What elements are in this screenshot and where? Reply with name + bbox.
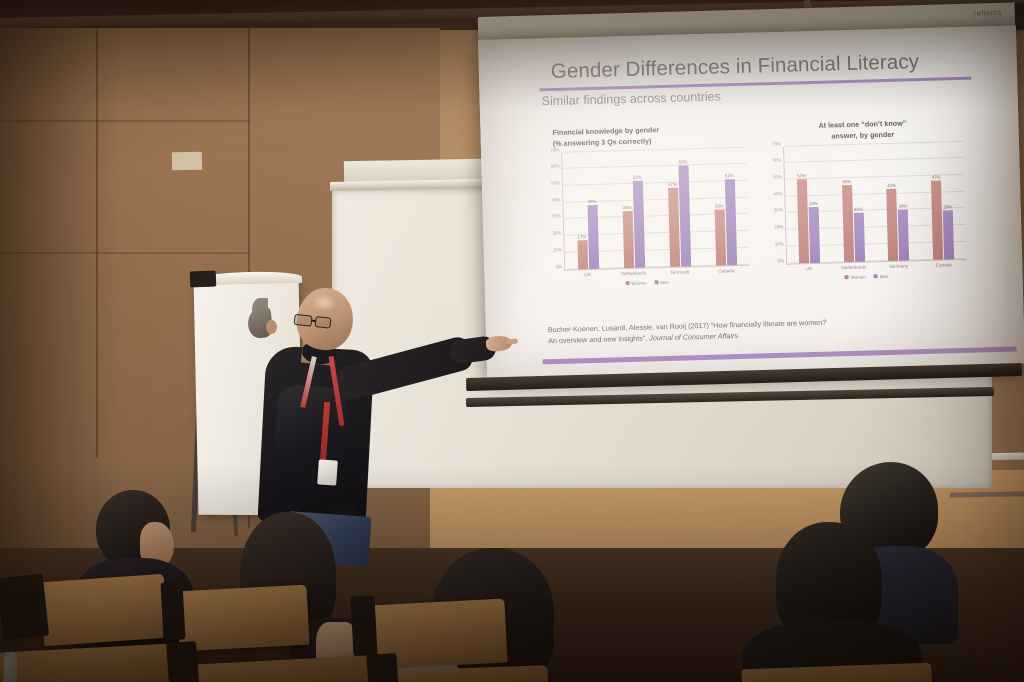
projection-screen: Gender Differences in Financial Literacy… [478,25,1024,377]
y-axis-tick-label: 10% [553,247,562,252]
bar-value-label: 34% [623,205,632,210]
bar-value-label: 29% [854,207,863,212]
bar-value-label: 51% [725,173,734,178]
bar-men-netherlands: 29% [853,213,864,262]
y-axis-tick-label: 50% [773,174,782,179]
bar-group: 50%33% [796,145,820,263]
y-axis-tick-label: 20% [774,224,783,229]
y-axis-tick-label: 20% [552,230,561,235]
presenter-pointing-finger [506,339,518,345]
bar-value-label: 38% [587,199,596,204]
bar-value-label: 46% [842,179,851,184]
seat-armrest [160,581,185,640]
bar-men-us: 33% [809,207,820,262]
y-axis-tick-label: 60% [772,158,781,163]
x-axis-label-us: US [786,265,831,271]
y-axis-tick-label: 30% [774,208,783,213]
audience-seating-block [0,470,1024,682]
bar-women-canada: 47% [931,181,943,260]
bar-value-label: 47% [932,175,941,180]
slide-citation: Bucher-Koenen, Lusardi, Alessie, van Roo… [548,312,978,346]
legend-label: Women [851,274,866,279]
presenter-ear [266,320,277,334]
y-axis-tick-label: 60% [551,164,560,169]
bar-men-canada: 29% [943,210,954,259]
x-axis-label-netherlands: Netherlands [611,270,657,276]
bar-men-germany: 60% [678,166,691,267]
slide-bottom-rule [543,347,1017,365]
x-axis-label-germany: Germany [876,263,921,269]
legend-item-women: Women [625,280,646,286]
seat [40,574,168,646]
plot-area-right: 0%10%20%30%40%50%60%70%50%33%46%29%43%30… [783,142,966,265]
bar-women-netherlands: 34% [622,211,634,268]
seat-armrest [0,574,49,640]
bar-value-label: 33% [715,204,724,209]
seat [177,585,310,652]
lecture-hall-photo: reflecta Gender Differences in Financial… [0,0,1024,682]
bar-value-label: 29% [943,204,952,209]
flipchart-clamp [190,271,217,288]
chart-financial-knowledge: Financial knowledge by gender (% answeri… [540,123,749,288]
legend-item-women: Women [845,274,866,280]
bar-group: 34%52% [621,150,645,268]
legend-left: WomenMen [545,277,750,288]
seat-armrest [350,595,377,656]
bar-group: 33%51% [713,148,737,266]
legend-swatch [625,281,629,285]
water-bottle [4,656,17,682]
wall-notice [172,152,202,171]
wall-seam-horizontal [0,120,250,122]
seat-armrest [166,641,200,682]
bar-men-canada: 51% [724,179,736,264]
y-axis-tick-label: 0% [778,258,784,263]
legend-right: WomenMen [767,271,967,281]
slide-subtitle: Similar findings across countries [541,89,721,108]
chart-dont-know: At least one “don’t know” answer, by gen… [762,117,966,282]
bar-men-netherlands: 52% [632,180,644,267]
y-axis-tick-label: 10% [775,241,784,246]
plot-area-left: 0%10%20%30%40%50%60%70%17%38%34%52%47%60… [561,147,749,270]
y-axis-tick-label: 70% [550,147,559,152]
bar-men-us: 38% [587,205,599,269]
wall-seam-vertical [96,28,98,458]
bar-group-container: 17%38%34%52%47%60%33%51% [562,147,749,269]
glasses-lens-right [314,316,331,329]
bar-value-label: 47% [668,182,677,187]
legend-item-men: Men [654,280,669,285]
wall-seam-horizontal [0,252,250,254]
y-axis-tick-label: 0% [556,264,562,269]
seat [0,643,177,682]
y-axis-tick-label: 50% [551,180,560,185]
y-axis-tick-label: 40% [551,197,560,202]
screen-housing-end-cap [1014,2,1024,28]
x-axis-label-netherlands: Netherlands [831,264,876,270]
bar-group: 47%60% [667,149,691,267]
presenter-head-highlight [310,292,338,313]
chart-title-right: At least one “don’t know” answer, by gen… [762,117,963,144]
bar-women-germany: 47% [668,188,680,267]
water-bottle-cap [6,652,15,657]
y-axis-tick-label: 40% [773,191,782,196]
bar-group: 17%38% [575,151,599,269]
bar-value-label: 52% [633,174,642,179]
bar-women-us: 50% [797,179,809,263]
glasses-lens-left [294,314,313,327]
y-axis-tick-label: 70% [772,141,781,146]
bar-women-netherlands: 46% [842,185,854,262]
legend-item-men: Men [874,274,889,279]
chart-title-left: Financial knowledge by gender (% answeri… [540,123,746,150]
legend-label: Women [631,280,646,285]
x-axis-label-germany: Germany [657,269,703,275]
bar-group: 43%30% [885,143,909,261]
legend-label: Men [880,274,889,279]
bar-value-label: 50% [797,173,806,178]
bar-value-label: 43% [887,182,896,187]
legend-swatch [845,275,849,279]
legend-swatch [654,280,658,284]
bar-women-canada: 33% [714,210,725,265]
bar-group: 47%29% [930,142,954,260]
x-axis-label-us: US [564,271,610,277]
bar-value-label: 30% [899,204,908,209]
bar-men-germany: 30% [898,210,909,260]
presentation-slide: Gender Differences in Financial Literacy… [478,25,1024,377]
x-axis-label-canada: Canada [921,261,966,267]
bar-value-label: 17% [577,234,586,239]
seat-armrest [366,653,399,682]
seat [185,655,377,682]
bar-value-label: 33% [809,201,818,206]
bar-group-container: 50%33%46%29%43%30%47%29% [784,142,966,264]
legend-swatch [874,274,878,278]
legend-label: Men [660,280,669,285]
citation-journal: Journal of Consumer Affairs [649,331,738,342]
bar-women-germany: 43% [887,188,899,260]
bar-women-us: 17% [577,240,588,269]
citation-line2: An overview and new insights”, [548,333,649,345]
bar-value-label: 60% [678,160,687,165]
x-axis-label-canada: Canada [703,267,749,273]
screen-brand-label: reflecta [974,10,1002,18]
y-axis-tick-label: 30% [552,214,561,219]
bar-group: 46%29% [841,144,865,262]
